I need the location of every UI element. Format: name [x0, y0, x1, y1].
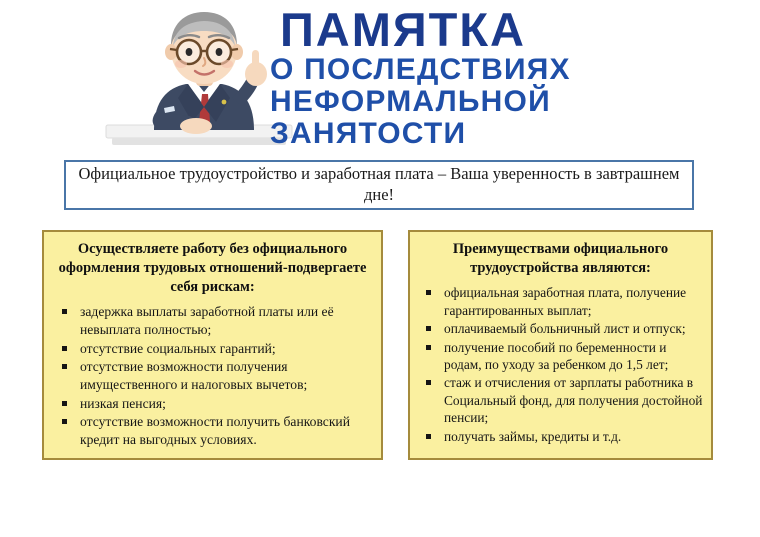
list-item-text: стаж и отчисления от зарплаты работника … [444, 375, 702, 425]
benefits-card-heading: Преимуществами официального трудоустройс… [416, 240, 705, 278]
page-title: ПАМЯТКА О ПОСЛЕДСТВИЯХ НЕФОРМАЛЬНОЙ ЗАНЯ… [268, 6, 708, 149]
title-line-3: НЕФОРМАЛЬНОЙ [270, 87, 708, 117]
list-item-text: отсутствие возможности получения имущест… [80, 359, 307, 392]
square-bullet-icon [62, 419, 67, 424]
poster-header: ПАМЯТКА О ПОСЛЕДСТВИЯХ НЕФОРМАЛЬНОЙ ЗАНЯ… [0, 0, 760, 152]
list-item-text: получать займы, кредиты и т.д. [444, 429, 621, 444]
list-item: получать займы, кредиты и т.д. [416, 428, 705, 445]
list-item-text: получение пособий по беременности и рода… [444, 340, 668, 372]
risks-bullet-list: задержка выплаты заработной платы или её… [50, 303, 375, 448]
list-item-text: оплачиваемый больничный лист и отпуск; [444, 321, 686, 336]
list-item-text: официальная заработная плата, получение … [444, 285, 686, 317]
list-item-text: задержка выплаты заработной платы или её… [80, 304, 334, 337]
list-item: официальная заработная плата, получение … [416, 284, 705, 319]
list-item: отсутствие социальных гарантий; [50, 340, 375, 358]
title-line-1: ПАМЯТКА [280, 6, 708, 53]
square-bullet-icon [62, 364, 67, 369]
square-bullet-icon [426, 290, 431, 295]
list-item-text: отсутствие возможности получить банковск… [80, 414, 350, 447]
slogan-text: Официальное трудоустройство и заработная… [66, 164, 692, 205]
poster-root: ПАМЯТКА О ПОСЛЕДСТВИЯХ НЕФОРМАЛЬНОЙ ЗАНЯ… [0, 0, 760, 537]
square-bullet-icon [426, 434, 431, 439]
list-item: отсутствие возможности получения имущест… [50, 358, 375, 393]
square-bullet-icon [62, 309, 67, 314]
list-item: получение пособий по беременности и рода… [416, 339, 705, 374]
risks-card-heading: Осуществляете работу без официального оф… [50, 240, 375, 297]
square-bullet-icon [62, 346, 67, 351]
list-item: стаж и отчисления от зарплаты работника … [416, 374, 705, 426]
list-item: задержка выплаты заработной платы или её… [50, 303, 375, 338]
list-item: оплачиваемый больничный лист и отпуск; [416, 320, 705, 337]
square-bullet-icon [426, 345, 431, 350]
benefits-bullet-list: официальная заработная плата, получение … [416, 284, 705, 445]
slogan-banner: Официальное трудоустройство и заработная… [64, 160, 694, 210]
list-item-text: отсутствие социальных гарантий; [80, 341, 276, 356]
title-line-4: ЗАНЯТОСТИ [270, 119, 708, 149]
list-item-text: низкая пенсия; [80, 396, 166, 411]
benefits-card: Преимуществами официального трудоустройс… [408, 230, 713, 460]
risks-card: Осуществляете работу без официального оф… [42, 230, 383, 460]
list-item: низкая пенсия; [50, 395, 375, 413]
square-bullet-icon [426, 326, 431, 331]
square-bullet-icon [62, 401, 67, 406]
title-line-2: О ПОСЛЕДСТВИЯХ [270, 55, 708, 85]
list-item: отсутствие возможности получить банковск… [50, 413, 375, 448]
square-bullet-icon [426, 380, 431, 385]
